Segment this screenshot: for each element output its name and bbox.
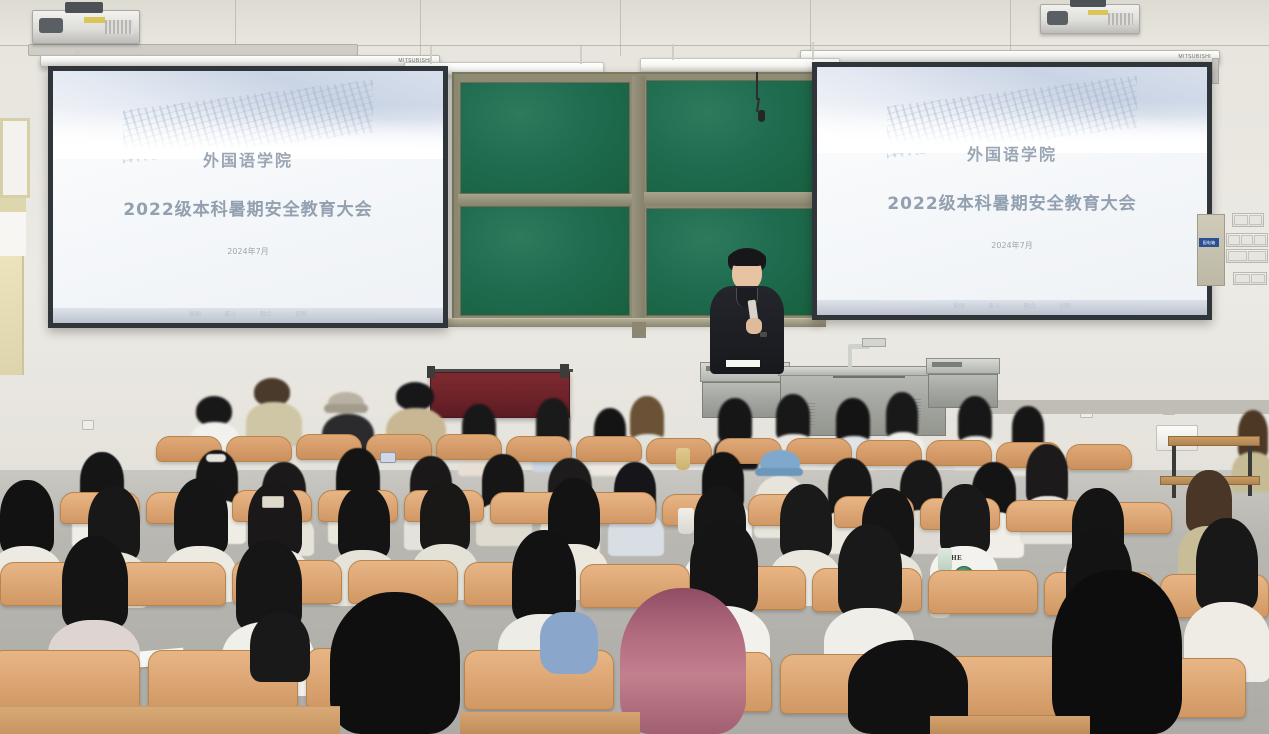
hair-clip [206,454,226,462]
projector-mount [1070,0,1105,7]
blackboard-rail [644,192,820,206]
switch-key[interactable] [1249,215,1263,225]
slide-title: 2022级本科暑期安全教育大会 [817,189,1207,214]
front-desk-edge [930,716,1090,734]
seat [506,436,572,462]
light-switch-panel[interactable] [1232,213,1264,227]
light-hanger [672,44,674,60]
slide-surface-right: 外国语学院 2022级本科暑期安全教育大会 2024年7月 爱国 奋斗 融合 创… [817,67,1207,315]
seat [1066,444,1132,470]
presenter [706,248,786,370]
projector-right [1040,4,1140,34]
blackboard-rail [458,194,632,206]
switch-key[interactable] [1254,235,1266,245]
projector-sticker [84,17,105,23]
water-bottle [678,508,694,534]
slide-title: 2022级本科暑期安全教育大会 [53,195,443,220]
projector-vent [105,20,133,34]
water-bottle [938,548,952,572]
wall-seam [620,0,621,56]
wall-seam [810,0,811,54]
projection-screen-left: 外国语学院 2022级本科暑期安全教育大会 2024年7月 爱国 奋斗 融合 创… [48,66,448,328]
switch-key[interactable] [1228,235,1240,245]
light-hanger [580,46,582,64]
slide-date: 2024年7月 [53,246,443,257]
projector-lens [1047,11,1069,24]
desk-leg [1248,446,1252,496]
slide-bottom-band [53,308,443,323]
wall-panel [0,212,26,256]
front-desk-edge [460,712,640,734]
microphone-wire [756,72,758,100]
smartphone [380,452,396,463]
electrical-cabinet[interactable] [1197,214,1225,286]
seat [0,650,140,710]
wall-seam [420,0,421,58]
slide-surface-left: 外国语学院 2022级本科暑期安全教育大会 2024年7月 爱国 奋斗 融合 创… [53,71,443,323]
wall-seam [1010,0,1011,52]
power-outlet [82,420,94,430]
projector-sticker [1088,10,1108,15]
podium-top-edge [428,369,573,372]
light-switch-panel[interactable] [1226,249,1268,263]
hanging-microphone-icon [758,110,765,122]
switch-key[interactable] [1235,274,1250,283]
projector-vent [1108,13,1133,25]
light-switch-panel[interactable] [1226,233,1268,247]
ceiling-light-right [640,58,840,72]
switch-key[interactable] [1241,235,1253,245]
light-hanger [812,42,814,60]
wristwatch [760,332,767,337]
switch-key[interactable] [1228,251,1247,261]
slide-header-image [53,71,443,157]
projector-lens [39,18,62,33]
wall-cabinet [0,255,24,375]
light-switch-panel[interactable] [1233,272,1267,285]
slide-date: 2024年7月 [817,240,1207,251]
seat [116,562,226,606]
blackboard-panel [460,82,630,194]
switch-key[interactable] [1234,215,1248,225]
slide-organization: 外国语学院 [53,147,443,171]
podium-corner [560,364,569,378]
desk-leg [1172,446,1176,498]
light-hanger [430,46,432,64]
lecture-hall-photo: MITSUBISHI MITSUBISHI 外国语学院 2022级本科暑期安全教… [0,0,1269,734]
hair-claw-clip [262,496,284,508]
switch-key[interactable] [1248,251,1267,261]
seat [576,436,642,462]
side-desk [1168,436,1260,446]
front-desk-edge [0,706,340,734]
projection-screen-right: 外国语学院 2022级本科暑期安全教育大会 2024年7月 爱国 奋斗 融合 创… [812,62,1212,320]
blackboard-panel [460,206,630,316]
switch-key[interactable] [1251,274,1266,283]
slide-organization: 外国语学院 [817,141,1207,165]
wall-window [0,118,30,198]
slide-header-image [817,67,1207,151]
cabinet-sign: 配电箱 [1199,238,1219,247]
console-paper [726,360,760,367]
slide-bottom-band [817,300,1207,315]
casing-brand-label: MITSUBISHI [1178,54,1211,60]
casing-bracket [1212,58,1219,84]
faucet-pipe [848,346,852,368]
blackboard-post [632,322,646,338]
seat [926,440,992,466]
blackboard-panel [646,80,818,194]
console-monitor [862,338,886,347]
projector-left [32,10,140,44]
console-desktop [778,366,950,376]
seat [226,436,292,462]
projector-mount [65,2,103,13]
seat [366,434,432,460]
console-slot [932,362,962,367]
seat [928,570,1038,614]
window-sill [0,198,26,212]
presenter-hair-top [728,250,766,266]
drink-cup [676,448,690,470]
podium-corner [427,366,435,378]
